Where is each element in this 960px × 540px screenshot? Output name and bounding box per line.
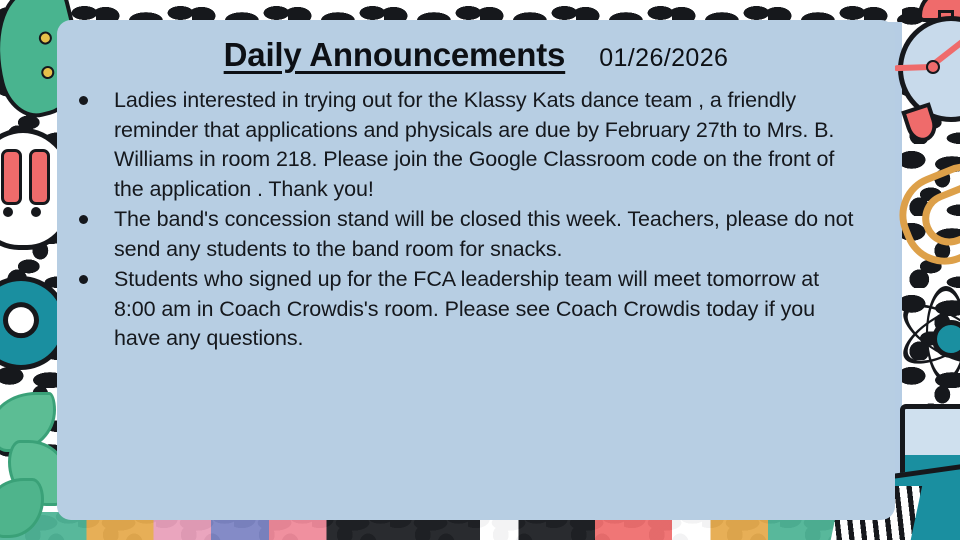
clock-hand-hour [894,64,930,71]
list-item: Ladies interested in trying out for the … [79,86,865,204]
announcement-text: The band's concession stand will be clos… [114,207,853,261]
card-header: Daily Announcements 01/26/2026 [57,20,895,74]
announcement-text: Ladies interested in trying out for the … [114,88,834,201]
bullet-point-icon [79,96,88,105]
announcement-slide: Daily Announcements 01/26/2026 Ladies in… [0,0,960,540]
announcement-text: Students who signed up for the FCA leade… [114,267,819,350]
atom-icon [898,286,960,382]
list-item: Students who signed up for the FCA leade… [79,265,865,354]
bullet-point-icon [79,215,88,224]
page-title: Daily Announcements [224,36,566,74]
exclamation-bar-right [29,149,50,205]
bullet-point-icon [79,275,88,284]
announcement-date: 01/26/2026 [599,44,728,73]
exclamation-bar-left [1,149,22,205]
clock-pivot-icon [926,60,940,74]
announcement-card: Daily Announcements 01/26/2026 Ladies in… [57,20,895,520]
announcement-list: Ladies interested in trying out for the … [57,86,895,354]
exclamation-dot-left [3,207,13,217]
exclamation-dot-right [31,207,41,217]
list-item: The band's concession stand will be clos… [79,205,865,264]
doodle-band-top [0,0,960,22]
